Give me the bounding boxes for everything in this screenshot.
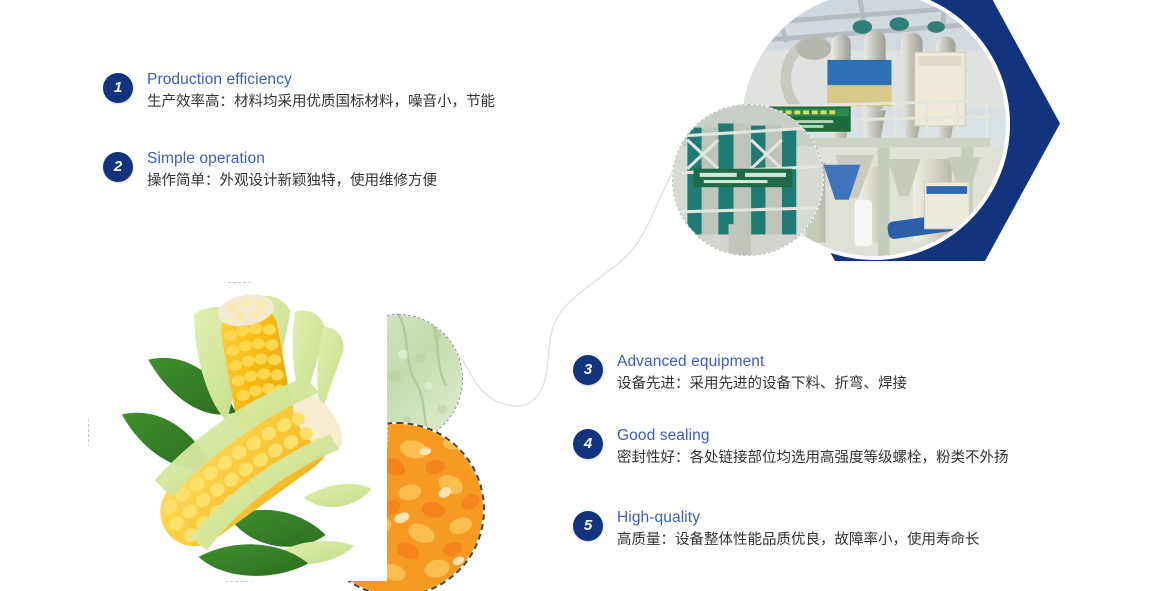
feature-title-4: Good sealing bbox=[617, 426, 1009, 446]
feature-item-4: 4 Good sealing 密封性好：各处链接部位均选用高强度等级螺栓，粉类不… bbox=[573, 426, 1009, 469]
feature-desc-2: 操作简单：外观设计新颖独特，使用维修方便 bbox=[147, 170, 437, 192]
corn-media-group bbox=[88, 282, 488, 591]
feature-desc-4: 密封性好：各处链接部位均选用高强度等级螺栓，粉类不外扬 bbox=[617, 447, 1009, 469]
feature-badge-1: 1 bbox=[103, 73, 133, 103]
feature-text-1: Production efficiency 生产效率高：材料均采用优质国标材料，… bbox=[147, 70, 495, 113]
feature-item-2: 2 Simple operation 操作简单：外观设计新颖独特，使用维修方便 bbox=[103, 149, 437, 192]
feature-text-2: Simple operation 操作简单：外观设计新颖独特，使用维修方便 bbox=[147, 149, 437, 192]
feature-infographic: 1 Production efficiency 生产效率高：材料均采用优质国标材… bbox=[0, 0, 1154, 591]
feature-badge-4: 4 bbox=[573, 429, 603, 459]
feature-title-1: Production efficiency bbox=[147, 70, 495, 90]
equipment-media-group bbox=[660, 0, 1154, 286]
feature-item-5: 5 High-quality 高质量：设备整体性能品质优良，故障率小，使用寿命长 bbox=[573, 508, 980, 551]
feature-badge-5: 5 bbox=[573, 511, 603, 541]
teal-milling-equipment-photo bbox=[672, 104, 824, 256]
feature-desc-5: 高质量：设备整体性能品质优良，故障率小，使用寿命长 bbox=[617, 529, 980, 551]
feature-text-4: Good sealing 密封性好：各处链接部位均选用高强度等级螺栓，粉类不外扬 bbox=[617, 426, 1009, 469]
feature-item-3: 3 Advanced equipment 设备先进：采用先进的设备下料、折弯、焊… bbox=[573, 352, 907, 395]
feature-desc-3: 设备先进：采用先进的设备下料、折弯、焊接 bbox=[617, 373, 907, 395]
feature-item-1: 1 Production efficiency 生产效率高：材料均采用优质国标材… bbox=[103, 70, 495, 113]
feature-desc-1: 生产效率高：材料均采用优质国标材料，噪音小，节能 bbox=[147, 91, 495, 113]
feature-text-3: Advanced equipment 设备先进：采用先进的设备下料、折弯、焊接 bbox=[617, 352, 907, 395]
feature-title-2: Simple operation bbox=[147, 149, 437, 169]
feature-badge-3: 3 bbox=[573, 355, 603, 385]
feature-text-5: High-quality 高质量：设备整体性能品质优良，故障率小，使用寿命长 bbox=[617, 508, 980, 551]
fresh-corn-cob-photo bbox=[88, 282, 388, 582]
feature-title-5: High-quality bbox=[617, 508, 980, 528]
feature-title-3: Advanced equipment bbox=[617, 352, 907, 372]
feature-badge-2: 2 bbox=[103, 152, 133, 182]
